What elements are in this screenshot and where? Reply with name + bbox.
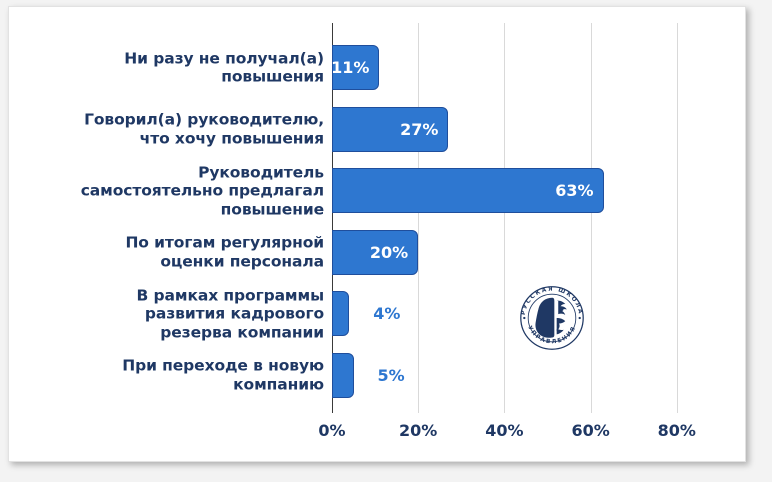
category-label: При переходе в новую компанию xyxy=(54,357,324,394)
gridline-40 xyxy=(504,23,505,413)
category-label: Руководитель самостоятельно предлагал по… xyxy=(54,163,324,219)
x-tick-0: 0% xyxy=(318,421,345,440)
bar[interactable]: 27% xyxy=(332,107,448,152)
gridline-20 xyxy=(418,23,419,413)
bar-row: 27% xyxy=(332,107,448,152)
bar-value-label: 11% xyxy=(331,58,378,77)
category-label: Говорил(а) руководителю, что хочу повыше… xyxy=(54,111,324,148)
bar[interactable]: 63% xyxy=(332,168,604,213)
screenshot-root: Ни разу не получал(а) повышения11%Говори… xyxy=(0,0,772,482)
bar[interactable] xyxy=(332,291,349,336)
bar-value-label: 20% xyxy=(370,243,417,262)
bar[interactable]: 20% xyxy=(332,230,418,275)
bar[interactable]: 11% xyxy=(332,45,379,90)
x-tick-20: 20% xyxy=(399,421,437,440)
bar-row: 11% xyxy=(332,45,379,90)
watermark-logo: РУССКАЯ ШКОЛА УПРАВЛЕНИЯ xyxy=(513,279,591,357)
bar-value-label: 63% xyxy=(555,181,602,200)
lion-head-icon xyxy=(535,298,566,338)
bar-row: 63% xyxy=(332,168,604,213)
x-tick-40: 40% xyxy=(485,421,523,440)
category-label: По итогам регулярной оценки персонала xyxy=(54,234,324,271)
category-label: Ни разу не получал(а) повышения xyxy=(54,49,324,86)
bar[interactable] xyxy=(332,353,354,398)
chart-card: Ни разу не получал(а) повышения11%Говори… xyxy=(8,6,746,462)
bar-value-label: 27% xyxy=(400,120,447,139)
category-label: В рамках программы развития кадрового ре… xyxy=(54,286,324,342)
bar-value-label: 4% xyxy=(373,304,400,323)
x-tick-80: 80% xyxy=(658,421,696,440)
gridline-80 xyxy=(677,23,678,413)
x-tick-60: 60% xyxy=(571,421,609,440)
chart-plot-area: Ни разу не получал(а) повышения11%Говори… xyxy=(9,7,745,461)
bar-row: 5% xyxy=(332,353,405,398)
bar-row: 4% xyxy=(332,291,400,336)
bar-row: 20% xyxy=(332,230,418,275)
bar-value-label: 5% xyxy=(378,366,405,385)
